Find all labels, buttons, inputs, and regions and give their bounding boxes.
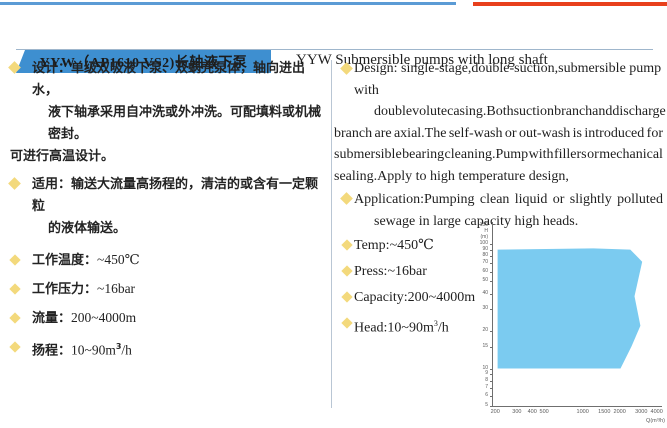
design-line-4-en: submersible bearing cleaning.Pump with f… xyxy=(330,144,663,166)
chart-y-tick-label: 80 xyxy=(472,253,488,258)
spec-press-label-cn: 工作压力： xyxy=(32,282,97,297)
application-line-2-cn: 的液体输送。 xyxy=(10,218,322,240)
word: liquid xyxy=(515,189,548,211)
chart-y-tick-mark xyxy=(490,331,493,332)
design-line-3-cn: 可进行高温设计。 xyxy=(10,146,322,168)
chart-y-tick-mark xyxy=(490,374,493,375)
word: axial.The xyxy=(394,123,446,145)
chart-y-tick-mark xyxy=(490,406,493,407)
chart-y-tick-label: 10 xyxy=(472,366,488,371)
spec-head-unit-en: /h xyxy=(438,321,449,336)
spec-press-cn: 工作压力：~16bar xyxy=(10,276,322,303)
chart-x-tick-label: 4000 xyxy=(651,409,663,415)
chart-x-tick-label: 1000 xyxy=(577,409,589,415)
chart-y-tick-mark xyxy=(490,272,493,273)
chart-y-tick-mark xyxy=(490,388,493,389)
chart-x-axis-unit: Q(m³/h) xyxy=(646,418,665,424)
word: Application:Pumping xyxy=(354,189,475,211)
chart-x-tick-label: 400 xyxy=(528,409,537,415)
design-line-5-en: sealing.Apply to high temperature design… xyxy=(330,166,663,188)
chart-area-series xyxy=(492,222,665,406)
word: are xyxy=(374,123,391,145)
page-header: YYW（AP1610 VS2)长轴液下泵 YYW Submersible pum… xyxy=(0,24,667,52)
top-rule-orange xyxy=(473,2,667,6)
word: mechanical xyxy=(599,144,663,166)
left-column-chinese: 设计：单级双吸液下泵、双蜗壳泵体，轴向进出水， 液下轴承采用自冲洗或外冲洗。可配… xyxy=(10,58,322,408)
spec-head-label-cn: 扬程： xyxy=(32,343,71,358)
chart-y-tick-label: 70 xyxy=(472,260,488,265)
spec-head-value-cn: 10~90m xyxy=(71,342,116,357)
chart-y-tick-mark xyxy=(490,294,493,295)
chart-y-tick-label: 7 xyxy=(472,385,488,390)
chart-y-tick-mark xyxy=(490,256,493,257)
chart-y-tick-mark xyxy=(490,396,493,397)
chart-y-tick-label: 8 xyxy=(472,378,488,383)
word: volute xyxy=(412,101,447,123)
word: discharge xyxy=(612,101,665,123)
word: suction xyxy=(514,101,554,123)
word: cleaning.Pump xyxy=(445,144,529,166)
word: or xyxy=(553,189,565,211)
chart-y-tick-label: 50 xyxy=(472,278,488,283)
chart-y-tick-mark xyxy=(490,244,493,245)
word: bearing xyxy=(402,144,444,166)
chart-y-tick-mark xyxy=(490,281,493,282)
application-bullet-cn: 适用：输送大流量高扬程的，清洁的或含有一定颗粒 的液体输送。 xyxy=(10,174,322,240)
spec-press-row-cn: 工作压力：~16bar xyxy=(10,276,322,303)
design-line-1-cn: 设计：单级双吸液下泵、双蜗壳泵体，轴向进出水， xyxy=(10,58,322,102)
word: introduced xyxy=(584,123,644,145)
chart-x-tick-label: 200 xyxy=(491,409,500,415)
chart-x-axis xyxy=(492,406,662,407)
word: branch xyxy=(554,101,592,123)
word: out-wash xyxy=(519,123,570,145)
spec-temp-cn: 工作温度：~450℃ xyxy=(10,247,322,274)
word: for xyxy=(647,123,663,145)
word: or xyxy=(505,123,517,145)
word: branch xyxy=(334,123,372,145)
spec-capacity-row-cn: 流量：200~4000m xyxy=(10,305,322,332)
word: polluted xyxy=(617,189,663,211)
word: is xyxy=(573,123,582,145)
design-line-2-en: double volute casing.Both suction branch… xyxy=(330,101,663,123)
word: fillers xyxy=(554,144,587,166)
spec-capacity-label-cn: 流量： xyxy=(32,311,71,326)
word: self-wash xyxy=(449,123,503,145)
chart-y-tick-label: 20 xyxy=(472,328,488,333)
spec-capacity-value-cn: 200~4000m xyxy=(71,310,136,325)
chart-y-tick-mark xyxy=(490,250,493,251)
design-bullet-cn: 设计：单级双吸液下泵、双蜗壳泵体，轴向进出水， 液下轴承采用自冲洗或外冲洗。可配… xyxy=(10,58,322,168)
design-bullet-en: Design: single-stage,double-suction,subm… xyxy=(330,58,663,187)
chart-x-tick-label: 300 xyxy=(512,409,521,415)
spec-head-text-en: Head:10~90m xyxy=(354,321,434,336)
chart-x-tick-label: 2000 xyxy=(614,409,626,415)
word: casing.Both xyxy=(447,101,514,123)
chart-x-tick-label: 500 xyxy=(540,409,549,415)
chart-y-tick-mark xyxy=(490,263,493,264)
design-line-1-en: Design: single-stage,double-suction,subm… xyxy=(330,58,663,101)
chart-y-tick-mark xyxy=(490,309,493,310)
chart-y-tick-mark xyxy=(490,381,493,382)
chart-plot-area xyxy=(492,222,665,406)
spec-head-row-cn: 扬程：10~90m3/h xyxy=(10,334,322,364)
application-line-1-cn: 适用：输送大流量高扬程的，清洁的或含有一定颗粒 xyxy=(10,174,322,218)
chart-y-tick-mark xyxy=(490,347,493,348)
chart-y-tick-label: 9 xyxy=(472,371,488,376)
word: double xyxy=(374,101,412,123)
performance-chart: 150H(m) Q(m³/h) 567891015203040506070809… xyxy=(470,218,665,418)
spec-temp-value-cn: ~450℃ xyxy=(97,252,140,267)
chart-y-tick-label: 60 xyxy=(472,269,488,274)
design-line-3-en: branch are axial.The self-wash or out-wa… xyxy=(330,123,663,145)
word: and xyxy=(592,101,612,123)
top-decoration-bars xyxy=(0,0,667,6)
spec-temp-label-cn: 工作温度： xyxy=(32,253,97,268)
word: clean xyxy=(480,189,510,211)
word: or xyxy=(587,144,599,166)
spec-head-unit-cn: /h xyxy=(121,342,132,357)
chart-x-tick-label: 3000 xyxy=(635,409,647,415)
word: with xyxy=(529,144,554,166)
chart-y-axis-unit: 150H(m) xyxy=(472,222,488,240)
chart-y-tick-label: 15 xyxy=(472,344,488,349)
spec-capacity-cn: 流量：200~4000m xyxy=(10,305,322,332)
chart-y-tick-mark xyxy=(490,369,493,370)
chart-x-tick-label: 1500 xyxy=(598,409,610,415)
word: slightly xyxy=(570,189,612,211)
chart-y-tick-label: 40 xyxy=(472,291,488,296)
design-line-2-cn: 液下轴承采用自冲洗或外冲洗。可配填料或机械密封。 xyxy=(10,102,322,146)
header-divider xyxy=(16,49,653,50)
application-line-1-en: Application:Pumping clean liquid or slig… xyxy=(330,189,663,211)
chart-y-tick-label: 90 xyxy=(472,247,488,252)
chart-y-tick-label: 6 xyxy=(472,393,488,398)
spec-press-value-cn: ~16bar xyxy=(97,281,135,296)
spec-temp-row-cn: 工作温度：~450℃ xyxy=(10,247,322,274)
chart-y-tick-label: 100 xyxy=(472,241,488,246)
chart-y-tick-label: 30 xyxy=(472,306,488,311)
chart-y-tick-label: 5 xyxy=(472,403,488,408)
top-rule-blue xyxy=(0,2,456,5)
spec-head-cn: 扬程：10~90m3/h xyxy=(10,334,322,364)
word: submersible xyxy=(334,144,402,166)
